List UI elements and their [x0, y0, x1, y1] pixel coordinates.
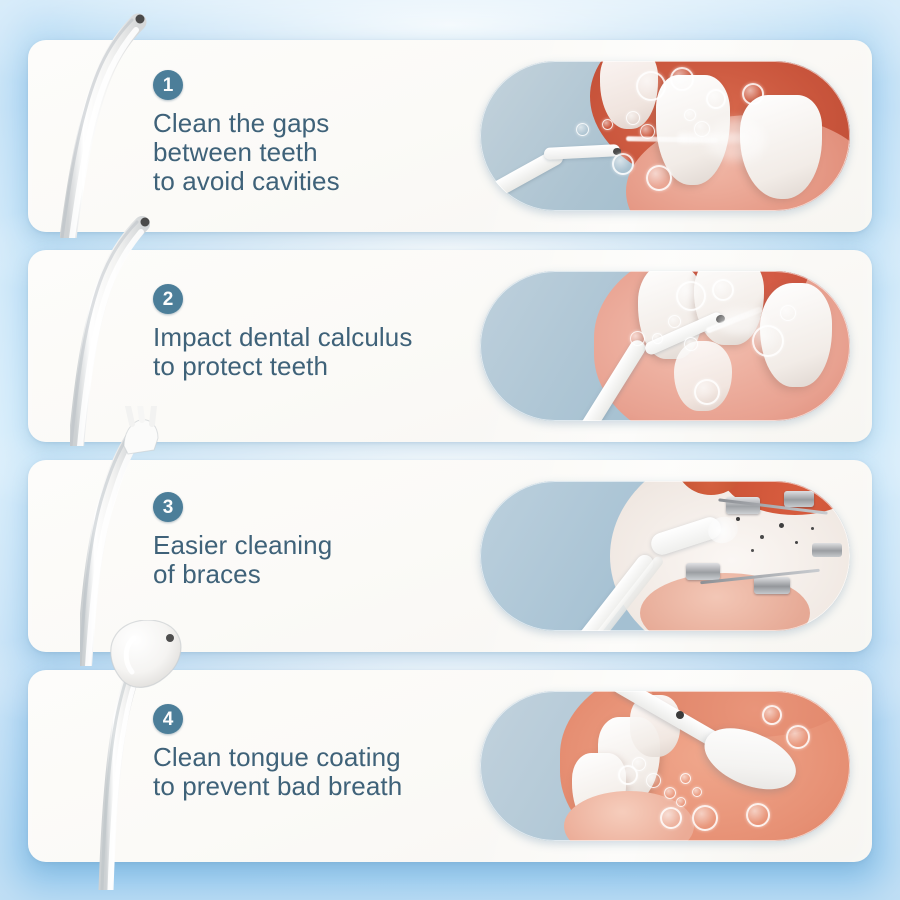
feature-text-4: 4 Clean tongue coating to prevent bad br… [153, 704, 523, 801]
step-badge-2: 2 [153, 284, 183, 314]
feature-card-4[interactable]: 4 Clean tongue coating to prevent bad br… [28, 670, 872, 862]
infographic-stage: 1 Clean the gaps between teeth to avoid … [0, 0, 900, 900]
photo-cleaning-between-teeth [480, 61, 850, 211]
photo-cleaning-braces [480, 481, 850, 631]
photo-cleaning-tongue-coating [480, 691, 850, 841]
feature-card-3[interactable]: 3 Easier cleaning of braces [28, 460, 872, 652]
feature-caption-3: Easier cleaning of braces [153, 531, 483, 589]
step-badge-4: 4 [153, 704, 183, 734]
photo-impact-dental-calculus [480, 271, 850, 421]
feature-caption-2: Impact dental calculus to protect teeth [153, 323, 523, 381]
step-badge-3: 3 [153, 492, 183, 522]
step-badge-1: 1 [153, 70, 183, 100]
feature-caption-4: Clean tongue coating to prevent bad brea… [153, 743, 523, 801]
feature-text-3: 3 Easier cleaning of braces [153, 492, 483, 589]
feature-caption-1: Clean the gaps between teeth to avoid ca… [153, 109, 483, 196]
feature-text-2: 2 Impact dental calculus to protect teet… [153, 284, 523, 381]
feature-text-1: 1 Clean the gaps between teeth to avoid … [153, 70, 483, 196]
feature-card-2[interactable]: 2 Impact dental calculus to protect teet… [28, 250, 872, 442]
feature-card-1[interactable]: 1 Clean the gaps between teeth to avoid … [28, 40, 872, 232]
